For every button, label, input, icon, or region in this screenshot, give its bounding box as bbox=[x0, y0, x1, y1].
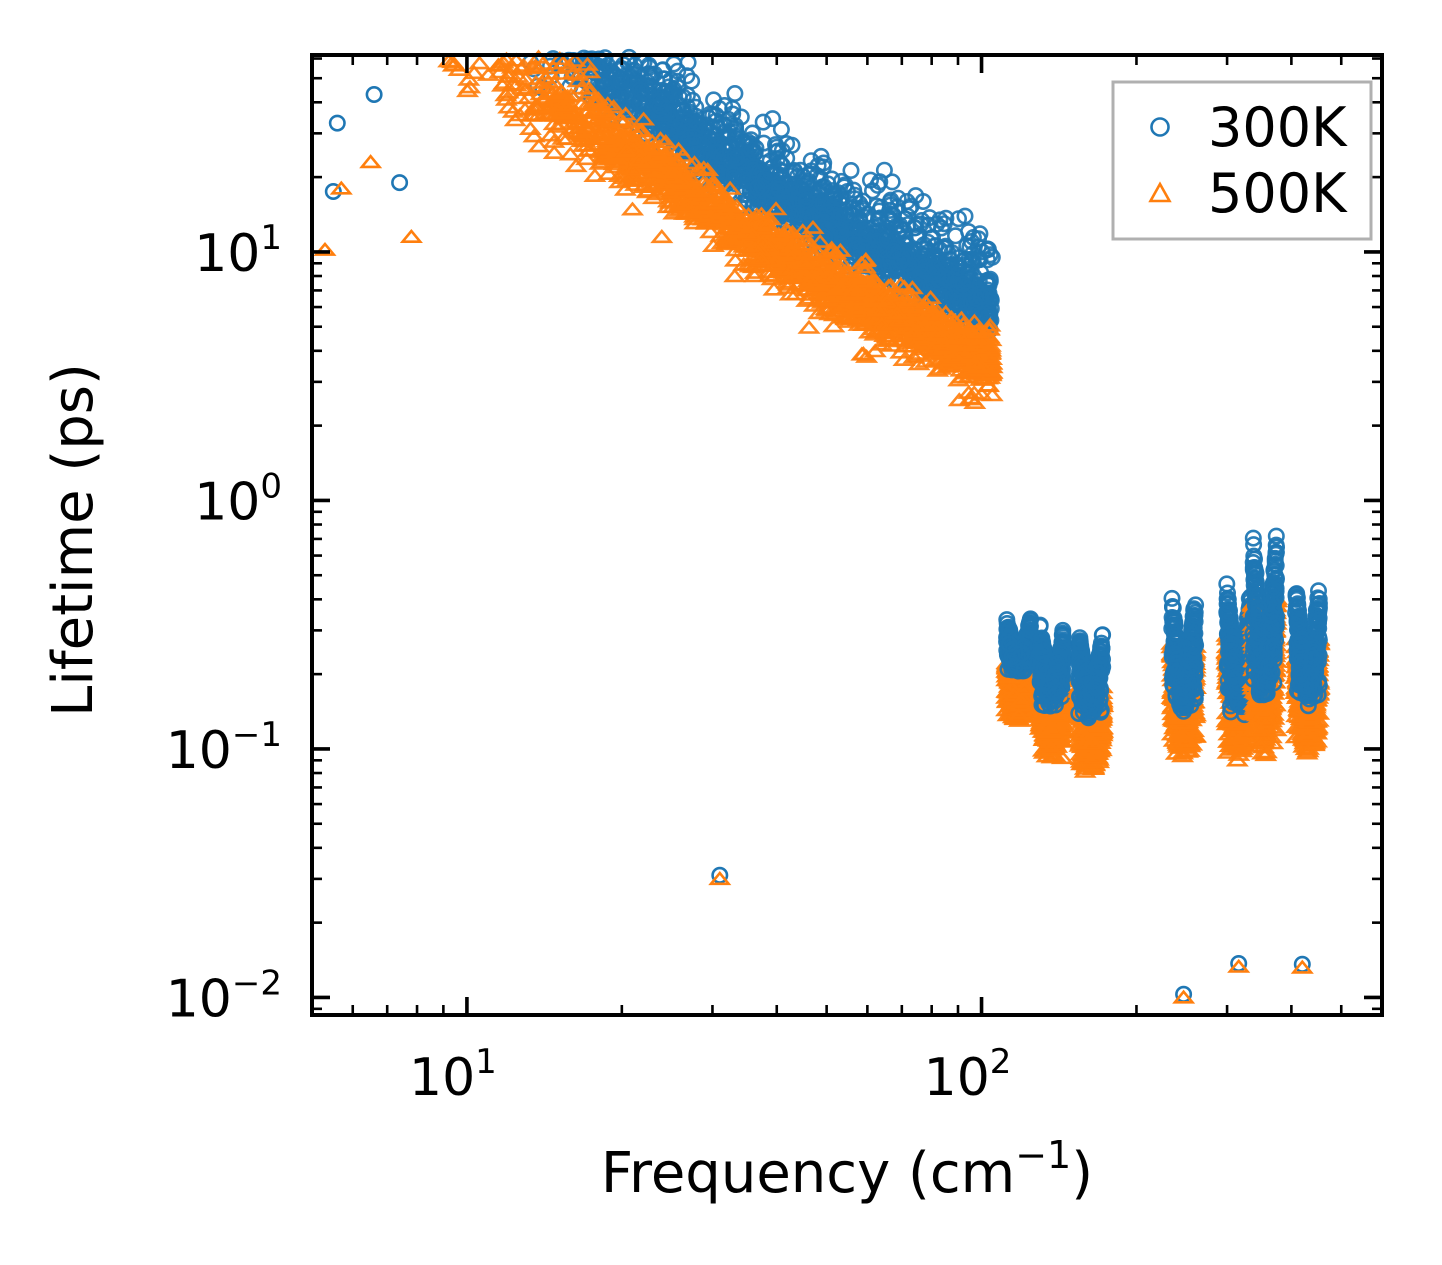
figure-canvas: 10110210110010−110−2 Frequency (cm−1) Li… bbox=[0, 0, 1442, 1265]
scatter-plot: 10110210110010−110−2 Frequency (cm−1) Li… bbox=[0, 0, 1442, 1265]
